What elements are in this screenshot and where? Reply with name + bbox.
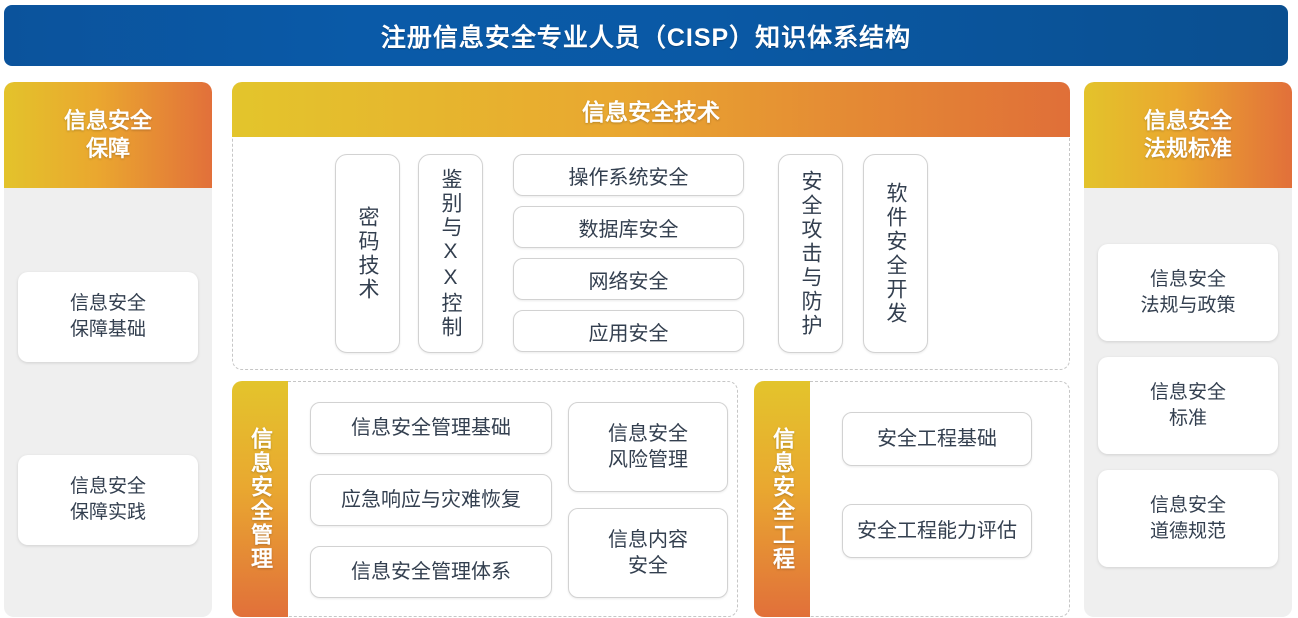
left-column-header-line1: 信息安全 [64,107,152,135]
engi-box-label: 安全工程能力评估 [857,518,1017,544]
left-column-header: 信息安全 保障 [4,82,212,188]
tech-box-network-security[interactable]: 网络安全 [513,258,744,300]
mgmt-box-content-security[interactable]: 信息内容 安全 [568,508,728,598]
engineering-section-body: 安全工程基础 安全工程能力评估 [810,381,1070,617]
right-column-body: 信息安全 法规与政策 信息安全 标准 信息安全 道德规范 [1084,188,1292,617]
mgmt-box-risk-management[interactable]: 信息安全 风险管理 [568,402,728,492]
left-column-body: 信息安全 保障基础 信息安全 保障实践 [4,188,212,617]
left-column-information-security-assurance: 信息安全 保障 信息安全 保障基础 信息安全 保障实践 [4,82,212,617]
tech-box-label: 网络安全 [589,265,669,294]
engi-box-label: 安全工程基础 [877,426,997,452]
left-column-header-line2: 保障 [64,135,152,163]
card-line1: 信息安全 [70,474,146,500]
mgmt-box-label-line2: 安全 [608,553,688,579]
management-section-label: 信息安全管理 [232,381,288,617]
right-card-laws-and-policies[interactable]: 信息安全 法规与政策 [1098,244,1278,341]
right-card-ethics[interactable]: 信息安全 道德规范 [1098,470,1278,567]
engi-box-engineering-basics[interactable]: 安全工程基础 [842,412,1032,466]
tech-box-label: 操作系统安全 [569,161,689,190]
tech-box-label: 应用安全 [589,317,669,346]
tech-box-secure-software-development[interactable]: 软件安全开发 [863,154,928,353]
technology-section-header: 信息安全技术 [232,82,1070,137]
right-column-header: 信息安全 法规标准 [1084,82,1292,188]
mgmt-box-incident-response-and-disaster-recovery[interactable]: 应急响应与灾难恢复 [310,474,552,526]
management-section-body: 信息安全管理基础 应急响应与灾难恢复 信息安全管理体系 信息安全 风险管理 信息… [288,381,738,617]
tech-box-database-security[interactable]: 数据库安全 [513,206,744,248]
page-title-bar: 注册信息安全专业人员（CISP）知识体系结构 [4,5,1288,66]
tech-box-label: 密码技术 [356,206,379,302]
tech-box-label: 鉴别与XX控制 [439,168,462,340]
mgmt-box-management-basics[interactable]: 信息安全管理基础 [310,402,552,454]
tech-box-label: 软件安全开发 [884,182,907,326]
card-line2: 保障基础 [70,317,146,343]
page-title: 注册信息安全专业人员（CISP）知识体系结构 [381,18,911,54]
tech-box-cryptography[interactable]: 密码技术 [335,154,400,353]
technology-section-body: 密码技术 鉴别与XX控制 操作系统安全 数据库安全 网络安全 应用安全 安全攻击… [233,137,1069,368]
card-line2: 保障实践 [70,500,146,526]
card-line1: 信息安全 [70,291,146,317]
card-line1: 信息安全 [1140,267,1235,293]
mgmt-box-label-line1: 信息安全 [608,421,688,447]
technology-section: 信息安全技术 密码技术 鉴别与XX控制 操作系统安全 数据库安全 网络安全 应用… [232,82,1070,370]
right-card-standards[interactable]: 信息安全 标准 [1098,357,1278,454]
mgmt-box-label: 应急响应与灾难恢复 [341,487,521,513]
tech-box-label: 数据库安全 [579,213,679,242]
management-section-label-text: 信息安全管理 [244,427,276,571]
management-section: 信息安全管理 信息安全管理基础 应急响应与灾难恢复 信息安全管理体系 信息安全 … [232,381,738,617]
card-line1: 信息安全 [1150,380,1226,406]
card-line2: 法规与政策 [1140,293,1235,319]
card-line2: 标准 [1150,406,1226,432]
tech-box-label: 安全攻击与防护 [799,170,822,338]
right-column-laws-and-standards: 信息安全 法规标准 信息安全 法规与政策 信息安全 标准 信息安全 道德规范 [1084,82,1292,617]
mgmt-box-management-system[interactable]: 信息安全管理体系 [310,546,552,598]
right-column-header-line1: 信息安全 [1144,107,1232,135]
card-line1: 信息安全 [1150,493,1226,519]
engineering-section: 信息安全工程 安全工程基础 安全工程能力评估 [754,381,1070,617]
tech-box-identification-and-access-control[interactable]: 鉴别与XX控制 [418,154,483,353]
tech-box-attack-and-defense[interactable]: 安全攻击与防护 [778,154,843,353]
mgmt-box-label: 信息安全管理基础 [351,415,511,441]
mgmt-box-label: 信息安全管理体系 [351,559,511,585]
engineering-section-label: 信息安全工程 [754,381,810,617]
engineering-section-label-text: 信息安全工程 [766,427,798,571]
mgmt-box-label-line1: 信息内容 [608,527,688,553]
left-card-assurance-practice[interactable]: 信息安全 保障实践 [18,455,198,545]
card-line2: 道德规范 [1150,519,1226,545]
right-column-header-line2: 法规标准 [1144,135,1232,163]
engi-box-engineering-capability-assessment[interactable]: 安全工程能力评估 [842,504,1032,558]
tech-box-application-security[interactable]: 应用安全 [513,310,744,352]
tech-box-operating-system-security[interactable]: 操作系统安全 [513,154,744,196]
mgmt-box-label-line2: 风险管理 [608,447,688,473]
left-card-assurance-basics[interactable]: 信息安全 保障基础 [18,272,198,362]
